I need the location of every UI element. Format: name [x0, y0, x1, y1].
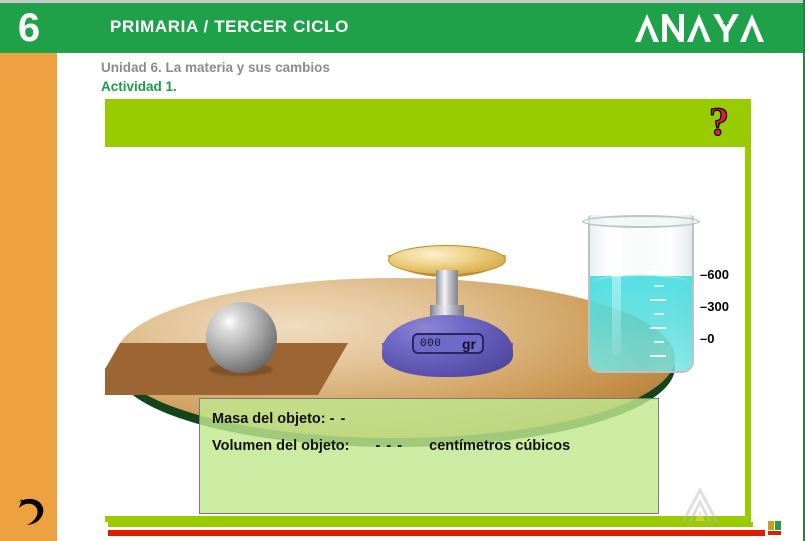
- beaker-tick-minor: [654, 285, 664, 287]
- scale-display-value: 000: [420, 338, 441, 350]
- question-mark-icon[interactable]: ?: [705, 101, 743, 147]
- volume-readout: Volumen del objeto: - - - centímetros cú…: [212, 438, 570, 454]
- mass-label: Masa del objeto:: [212, 411, 326, 427]
- scale-display-unit: gr: [462, 336, 476, 352]
- beaker-tick-major: [650, 327, 666, 329]
- beaker-tick-major: [650, 271, 666, 273]
- anaya-logo: [635, 12, 785, 44]
- readout-panel: Masa del objeto: - - Volumen del objeto:…: [199, 398, 659, 514]
- unit-subtitle: Unidad 6. La materia y sus cambios: [101, 60, 330, 75]
- beaker[interactable]: –600 –300 –0: [582, 215, 700, 377]
- activity-page: 6 PRIMARIA / TERCER CICLO: [0, 0, 805, 541]
- left-sidebar: [0, 53, 57, 541]
- beaker-glass: [588, 215, 694, 373]
- footer-green-line: [108, 522, 753, 527]
- beaker-scale-label-0: –0: [700, 331, 714, 346]
- simulation-stage: 000 gr –600 –300 –0: [105, 147, 751, 522]
- back-arrow-icon[interactable]: [10, 492, 50, 530]
- volume-label: Volumen del objeto:: [212, 438, 349, 454]
- beaker-tick-minor: [654, 313, 664, 315]
- volume-unit: centímetros cúbicos: [429, 438, 570, 454]
- beaker-scale-label-300: –300: [700, 299, 729, 314]
- scale-display: 000 gr: [412, 333, 484, 354]
- beaker-liquid: [590, 276, 692, 371]
- beaker-tick-minor: [654, 341, 664, 343]
- beaker-tick-major: [650, 355, 666, 357]
- beaker-scale-label-600: –600: [700, 267, 729, 282]
- activity-title: Actividad 1.: [101, 79, 177, 94]
- anaya-watermark-icon: [678, 488, 722, 526]
- corner-color-marks: [768, 521, 792, 535]
- beaker-tick-major: [650, 299, 666, 301]
- header-title: PRIMARIA / TERCER CICLO: [110, 17, 349, 37]
- beaker-liquid-surface: [592, 275, 690, 290]
- svg-text:?: ?: [709, 101, 729, 144]
- beaker-rim: [582, 215, 700, 228]
- mass-readout: Masa del objeto: - -: [212, 411, 346, 427]
- unit-number-badge: 6: [0, 3, 57, 53]
- volume-value: - - -: [376, 438, 404, 454]
- beaker-highlight: [612, 225, 621, 355]
- instruction-bar: ?: [105, 99, 751, 147]
- metal-sphere-object[interactable]: [206, 302, 277, 373]
- mass-value: - -: [330, 411, 347, 427]
- footer-red-line: [108, 530, 765, 536]
